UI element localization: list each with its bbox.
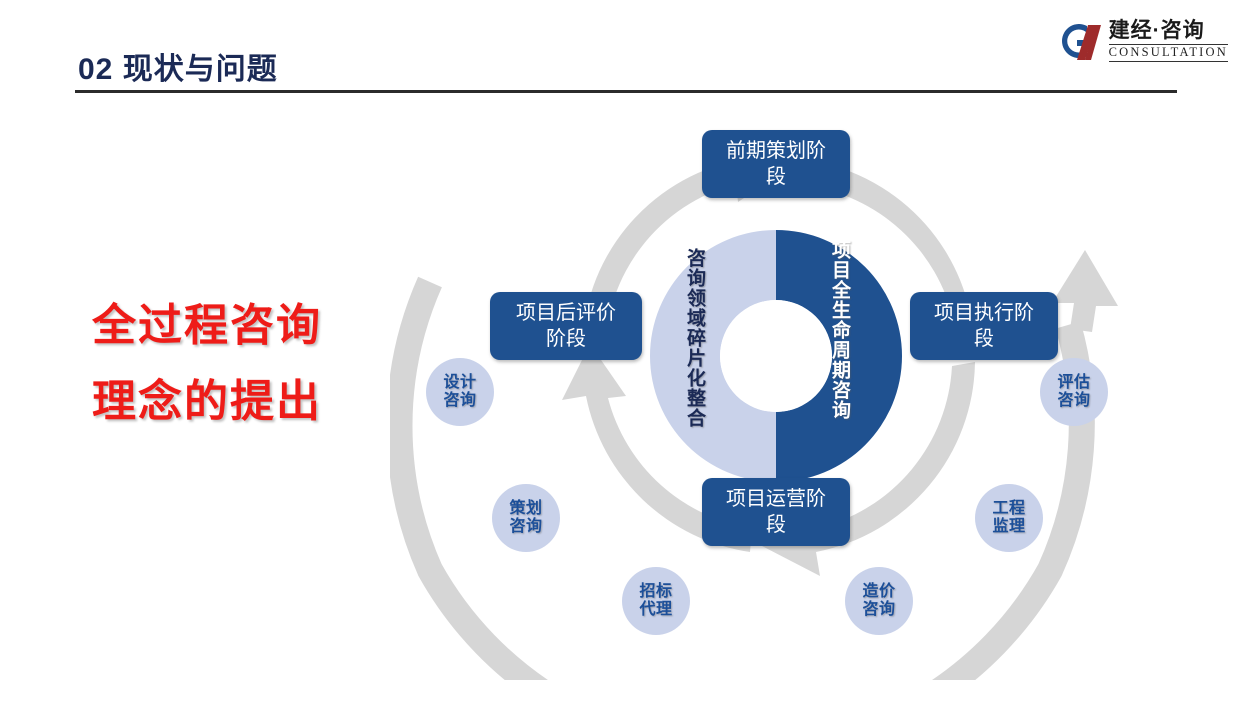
service-label-line-1: 策划 [509, 500, 542, 518]
service-label-line-1: 工程 [992, 500, 1025, 518]
service-label-line-2: 监理 [992, 518, 1025, 536]
service-node-appraisal[interactable]: 评估 咨询 [1040, 358, 1108, 426]
service-label-line-1: 造价 [862, 583, 895, 601]
headline-line-2: 理念的提出 [92, 364, 392, 440]
service-label-line-2: 咨询 [1057, 392, 1090, 410]
phase-box-post-evaluation[interactable]: 项目后评价 阶段 [490, 292, 642, 360]
service-label-line-2: 代理 [639, 601, 672, 619]
page-title: 02 现状与问题 [78, 44, 278, 88]
logo-english-name: CONSULTATION [1109, 44, 1228, 62]
logo-wordmark: 建经·咨询 CONSULTATION [1109, 20, 1228, 62]
service-label-line-1: 设计 [443, 374, 476, 392]
headline-block: 全过程咨询 理念的提出 [92, 288, 392, 439]
phase-label-line-2: 段 [726, 164, 826, 190]
service-label-line-2: 咨询 [862, 601, 895, 619]
phase-label-line-1: 项目后评价 [516, 300, 616, 326]
logo-mark-icon [1047, 16, 1103, 66]
headline-line-1: 全过程咨询 [92, 288, 392, 364]
service-node-bidding-agency[interactable]: 招标 代理 [622, 567, 690, 635]
service-label-line-2: 咨询 [443, 392, 476, 410]
title-divider [75, 90, 1177, 93]
phase-box-operation[interactable]: 项目运营阶 段 [702, 478, 850, 546]
service-node-design[interactable]: 设计 咨询 [426, 358, 494, 426]
phase-label-line-2: 段 [934, 326, 1034, 352]
phase-label-line-1: 前期策划阶 [726, 138, 826, 164]
phase-label-line-1: 项目运营阶 [726, 486, 826, 512]
phase-box-execution[interactable]: 项目执行阶 段 [910, 292, 1058, 360]
phase-label-line-2: 段 [726, 512, 826, 538]
service-label-line-1: 评估 [1057, 374, 1090, 392]
phase-label-line-1: 项目执行阶 [934, 300, 1034, 326]
phase-label-line-2: 阶段 [516, 326, 616, 352]
service-node-planning[interactable]: 策划 咨询 [492, 484, 560, 552]
phase-box-planning[interactable]: 前期策划阶 段 [702, 130, 850, 198]
service-label-line-2: 咨询 [509, 518, 542, 536]
donut-label-right: 项目全生命周期咨询 [830, 240, 849, 455]
service-node-cost-consulting[interactable]: 造价 咨询 [845, 567, 913, 635]
service-node-supervision[interactable]: 工程 监理 [975, 484, 1043, 552]
service-label-line-1: 招标 [639, 583, 672, 601]
brand-logo: 建经·咨询 CONSULTATION [1047, 16, 1228, 66]
slide-canvas: 02 现状与问题 建经·咨询 CONSULTATION 全过程咨询 理念的提出 [0, 0, 1256, 712]
donut-label-left: 咨询领域碎片化整合 [685, 248, 704, 448]
lifecycle-diagram: 咨询领域碎片化整合 项目全生命周期咨询 前期策划阶 段 项目后评价 阶段 项目执… [390, 100, 1180, 680]
logo-chinese-name: 建经·咨询 [1109, 20, 1228, 42]
